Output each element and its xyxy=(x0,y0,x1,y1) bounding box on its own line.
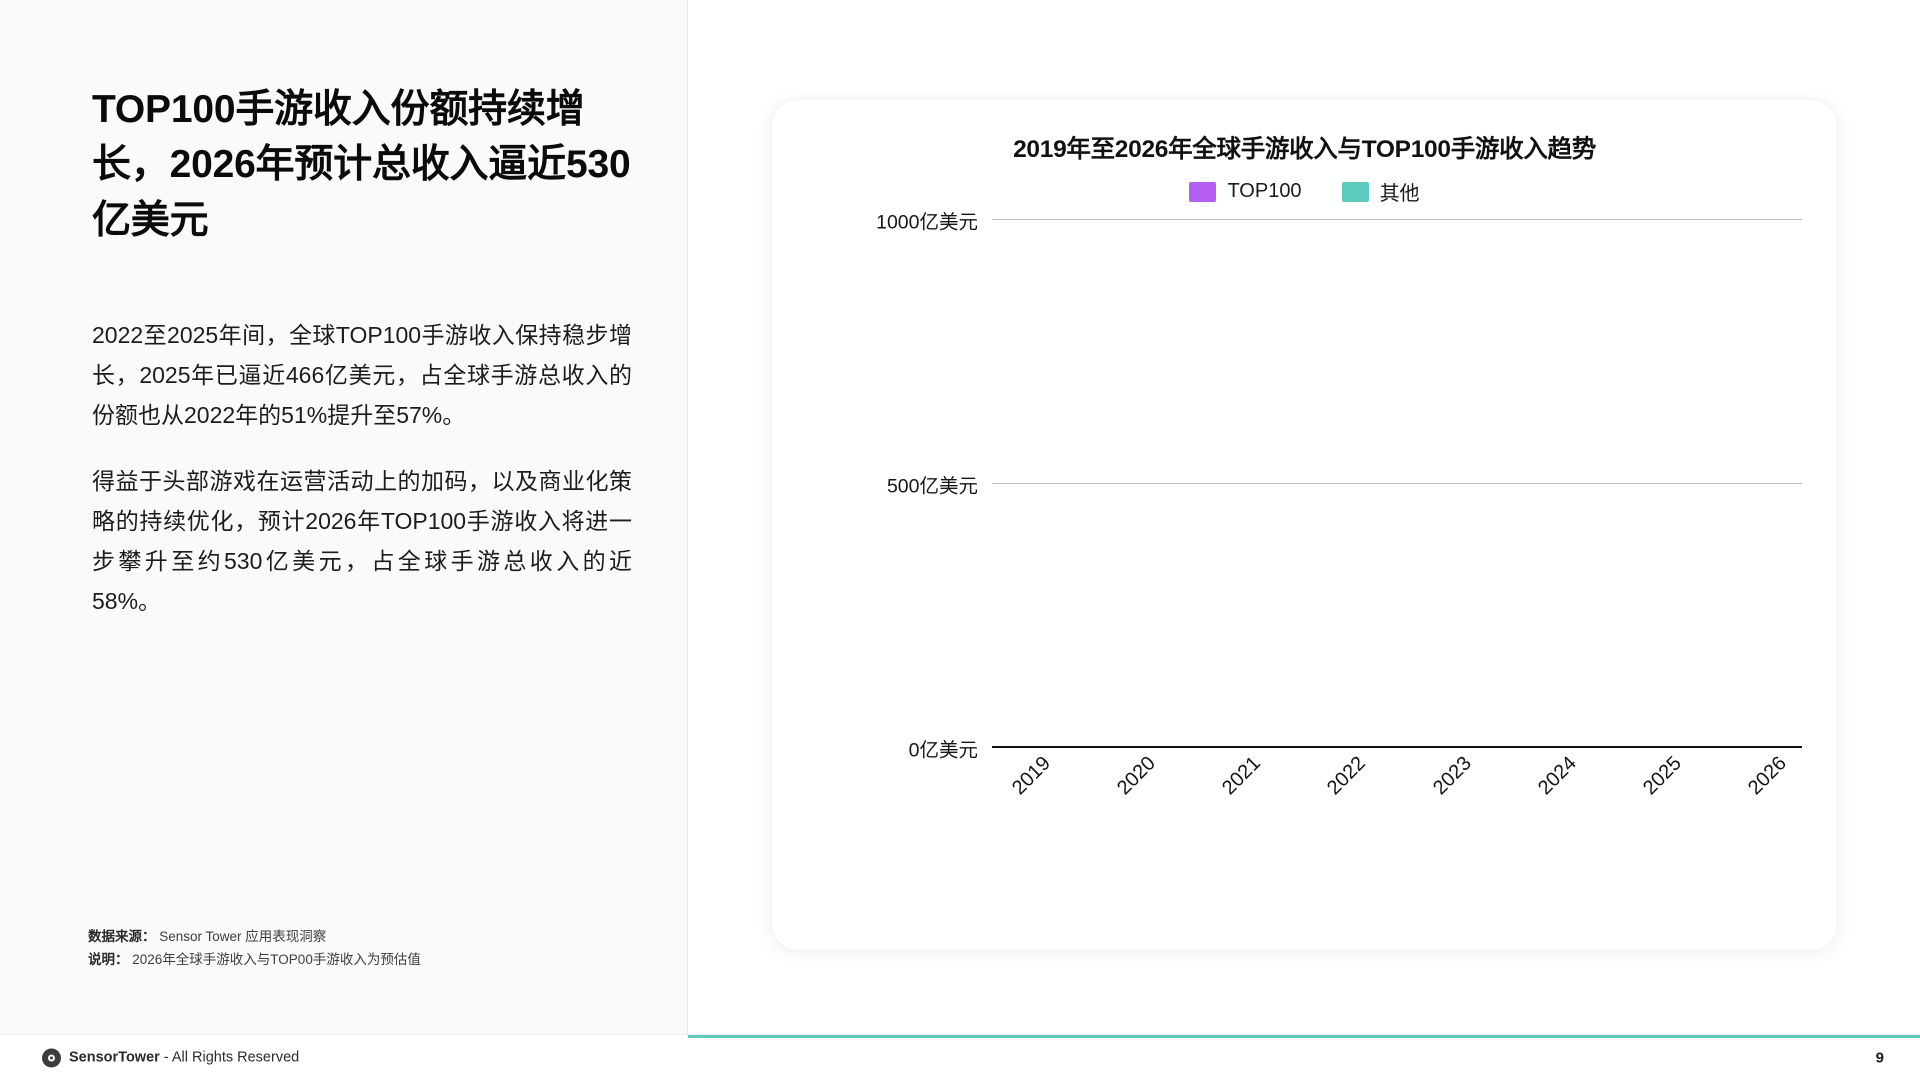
paragraph-1: 2022至2025年间，全球TOP100手游收入保持稳步增长，2025年已逼近4… xyxy=(92,315,632,435)
x-axis-tick-2024: 2024 xyxy=(1534,752,1582,800)
brand-bold: SensorTower xyxy=(69,1050,160,1066)
bar-share-label: 51% xyxy=(1313,702,1375,726)
plot-area: 51%201952%202051%202151%202252%202356%20… xyxy=(992,220,1802,748)
bar-column-2026[interactable]: 58%2026 xyxy=(1734,220,1796,748)
brand-text: SensorTower - All Rights Reserved xyxy=(69,1050,299,1066)
x-axis-tick-2022: 2022 xyxy=(1323,752,1371,800)
bar-share-label: 52% xyxy=(1103,702,1165,726)
legend-item-其他[interactable]: 其他 xyxy=(1342,177,1420,206)
bar-column-2019[interactable]: 51%2019 xyxy=(998,220,1060,748)
note-value: 2026年全球手游收入与TOP00手游收入为预估值 xyxy=(132,952,421,967)
page-number: 9 xyxy=(1876,1049,1884,1066)
bar-share-label: 58% xyxy=(1734,702,1796,726)
note-label: 说明： xyxy=(88,952,129,967)
y-axis-tick: 500亿美元 xyxy=(887,470,978,499)
x-axis-tick-2025: 2025 xyxy=(1639,752,1687,800)
gridline-500 xyxy=(992,483,1802,484)
x-axis-tick-2020: 2020 xyxy=(1113,752,1161,800)
chart-legend: TOP100其他 xyxy=(772,177,1837,206)
bar-column-2022[interactable]: 51%2022 xyxy=(1313,220,1375,748)
bar-share-label: 57% xyxy=(1629,702,1691,726)
bar-group: 51%201952%202051%202151%202252%202356%20… xyxy=(992,220,1802,748)
left-text-panel: TOP100手游收入份额持续增长，2026年预计总收入逼近530亿美元 2022… xyxy=(0,0,688,1034)
footer-accent-line xyxy=(688,1035,1920,1038)
footer-bar: SensorTower - All Rights Reserved 9 xyxy=(0,1034,1920,1080)
source-value: Sensor Tower 应用表现洞察 xyxy=(159,929,326,944)
legend-swatch-icon xyxy=(1342,182,1369,202)
source-line: 数据来源： Sensor Tower 应用表现洞察 xyxy=(88,925,648,948)
y-axis-tick: 1000亿美元 xyxy=(876,206,978,235)
slide-root: TOP100手游收入份额持续增长，2026年预计总收入逼近530亿美元 2022… xyxy=(0,0,1920,1080)
legend-label: 其他 xyxy=(1380,177,1420,206)
paragraph-2: 得益于头部游戏在运营活动上的加码，以及商业化策略的持续优化，预计2026年TOP… xyxy=(92,461,632,621)
bar-share-label: 52% xyxy=(1419,702,1481,726)
source-label: 数据来源： xyxy=(88,929,156,944)
bar-share-label: 51% xyxy=(998,702,1060,726)
chart-card: 2019年至2026年全球手游收入与TOP100手游收入趋势 TOP100其他 … xyxy=(772,100,1837,950)
page-title: TOP100手游收入份额持续增长，2026年预计总收入逼近530亿美元 xyxy=(92,82,637,248)
brand-rest: - All Rights Reserved xyxy=(160,1050,299,1066)
bar-share-label: 56% xyxy=(1524,702,1586,726)
note-line: 说明： 2026年全球手游收入与TOP00手游收入为预估值 xyxy=(88,948,648,971)
source-note-block: 数据来源： Sensor Tower 应用表现洞察 说明： 2026年全球手游收… xyxy=(88,925,648,971)
x-axis-tick-2019: 2019 xyxy=(1008,752,1056,800)
bar-column-2021[interactable]: 51%2021 xyxy=(1208,220,1270,748)
bar-share-label: 51% xyxy=(1208,702,1270,726)
legend-label: TOP100 xyxy=(1227,180,1301,203)
bar-column-2025[interactable]: 57%2025 xyxy=(1629,220,1691,748)
bar-column-2023[interactable]: 52%2023 xyxy=(1419,220,1481,748)
legend-swatch-icon xyxy=(1189,182,1216,202)
bar-column-2024[interactable]: 56%2024 xyxy=(1524,220,1586,748)
x-axis-tick-2026: 2026 xyxy=(1744,752,1792,800)
x-axis-tick-2021: 2021 xyxy=(1218,752,1266,800)
gridline-1000 xyxy=(992,219,1802,220)
body-copy: 2022至2025年间，全球TOP100手游收入保持稳步增长，2025年已逼近4… xyxy=(92,315,632,621)
x-axis-tick-2023: 2023 xyxy=(1428,752,1476,800)
legend-item-TOP100[interactable]: TOP100 xyxy=(1189,180,1301,203)
y-axis-tick: 0亿美元 xyxy=(909,734,978,763)
bar-column-2020[interactable]: 52%2020 xyxy=(1103,220,1165,748)
chart-plot: 51%201952%202051%202151%202252%202356%20… xyxy=(850,220,1812,860)
chart-title: 2019年至2026年全球手游收入与TOP100手游收入趋势 xyxy=(772,130,1837,165)
x-axis-line xyxy=(992,746,1802,748)
sensortower-logo-icon xyxy=(42,1048,61,1067)
footer-brand: SensorTower - All Rights Reserved xyxy=(42,1048,299,1067)
